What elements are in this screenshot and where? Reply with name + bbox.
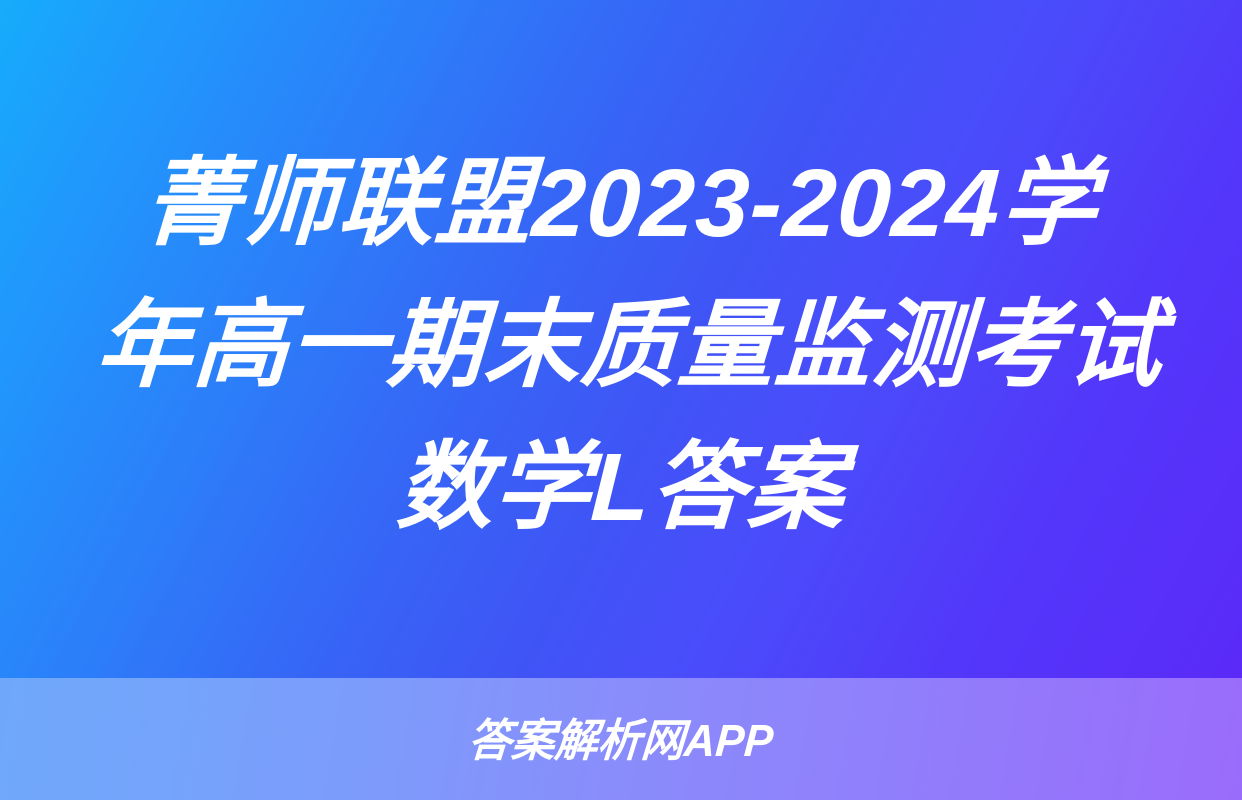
hero-gradient-panel: 菁师联盟2023-2024学 年高一期末质量监测考试 数学L答案 [0,0,1242,678]
title-line-3: 数学L答案 [92,417,1149,559]
title-line-2: 年高一期末质量监测考试 [92,275,1149,417]
footer-watermark-band: 答案解析网APP [0,678,1242,800]
poster-container: 菁师联盟2023-2024学 年高一期末质量监测考试 数学L答案 答案解析网AP… [0,0,1242,800]
watermark-text: 答案解析网APP [467,718,775,763]
title-line-1: 菁师联盟2023-2024学 [92,133,1149,275]
poster-title-block: 菁师联盟2023-2024学 年高一期末质量监测考试 数学L答案 [96,133,1146,559]
